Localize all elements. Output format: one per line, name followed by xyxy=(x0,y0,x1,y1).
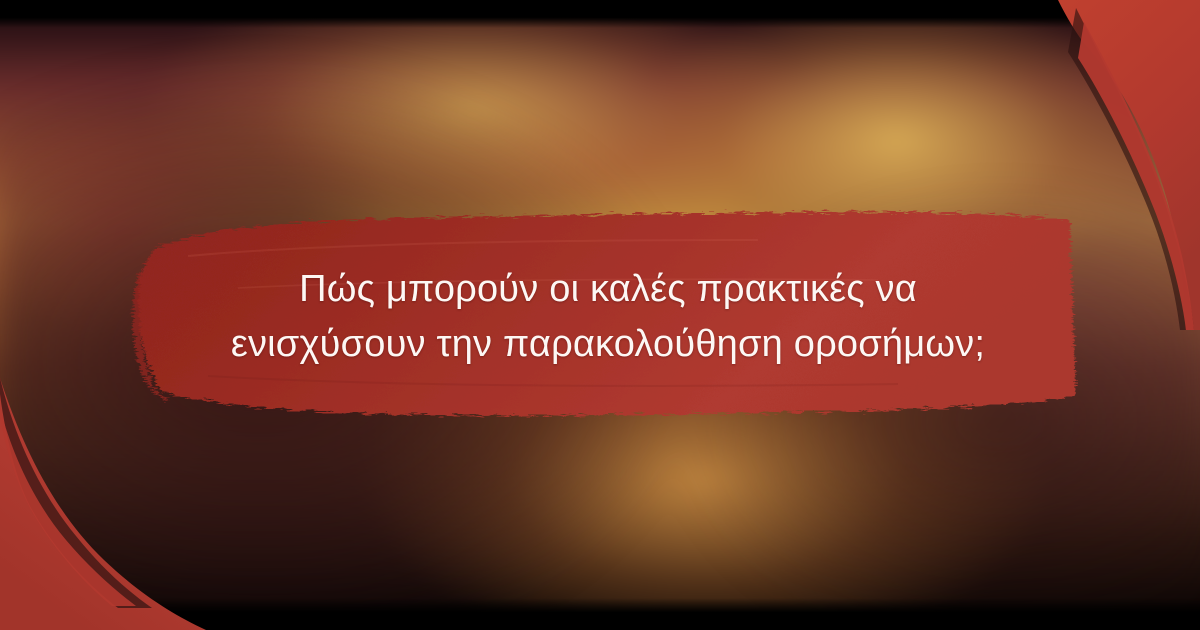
letterbox-bar-bottom xyxy=(0,598,1200,630)
social-share-card: Πώς μπορούν οι καλές πρακτικές να ενισχύ… xyxy=(0,0,1200,630)
headline-text: Πώς μπορούν οι καλές πρακτικές να ενισχύ… xyxy=(150,262,1066,372)
letterbox-bar-top xyxy=(0,0,1200,28)
